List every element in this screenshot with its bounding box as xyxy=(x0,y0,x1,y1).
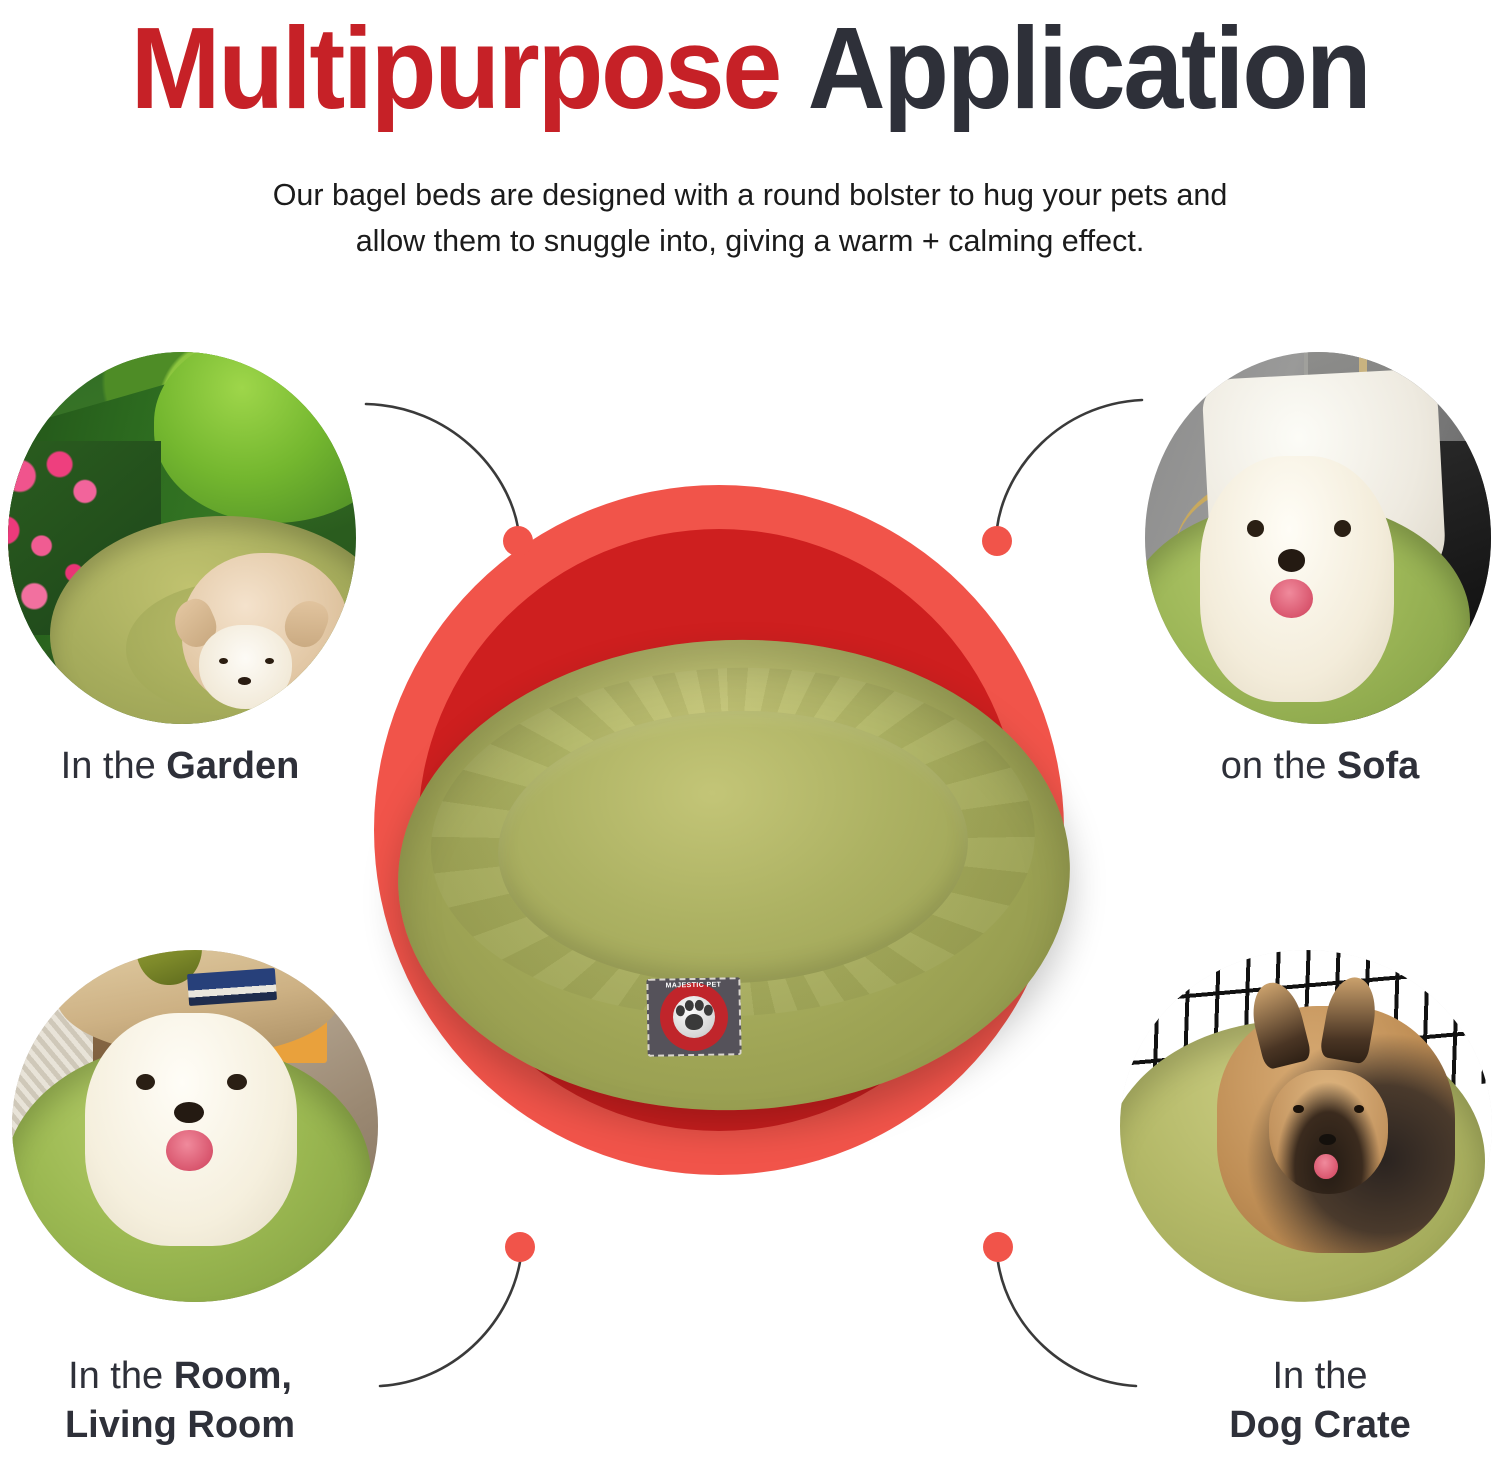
caption-garden-prefix: In the xyxy=(61,745,167,787)
german-shepherd-dog xyxy=(1217,1006,1455,1252)
dog-nose xyxy=(1278,549,1305,571)
dog-eye-left xyxy=(219,658,227,664)
living-room-scene xyxy=(12,950,378,1302)
multipurpose-application-infographic: Multipurpose Application Our bagel beds … xyxy=(0,0,1500,1471)
photo-in-the-dog-crate xyxy=(1120,950,1492,1302)
caption-crate-line2: Dog Crate xyxy=(1229,1404,1411,1446)
dog-nose xyxy=(238,677,251,685)
connector-line-garden xyxy=(366,404,518,528)
labrador-dog-living-room xyxy=(85,1013,297,1245)
connector-line-sofa xyxy=(997,400,1142,528)
photo-in-the-living-room xyxy=(12,950,378,1302)
labrador-dog-sofa xyxy=(1200,456,1394,702)
dog-nose xyxy=(174,1102,204,1123)
brand-tag-text-wrap: MAJESTIC PET xyxy=(648,979,739,1055)
brand-tag-text: MAJESTIC PET xyxy=(666,982,722,990)
caption-sofa-emphasis: Sofa xyxy=(1337,745,1419,787)
caption-garden: In the Garden xyxy=(0,742,360,791)
caption-living-prefix: In the xyxy=(68,1355,174,1397)
caption-living-line2: Living Room xyxy=(65,1404,295,1446)
garden-scene xyxy=(8,352,356,724)
caption-garden-emphasis: Garden xyxy=(166,745,299,787)
connector-line-crate xyxy=(998,1262,1136,1386)
dog-face xyxy=(199,625,293,709)
chihuahua-dog xyxy=(182,553,349,709)
caption-sofa: on the Sofa xyxy=(1140,742,1500,791)
page-title-dark: Application xyxy=(808,3,1370,133)
dog-eye-right xyxy=(265,658,273,664)
dog-eye-right xyxy=(227,1074,246,1090)
photo-in-the-garden xyxy=(8,352,356,724)
dog-eye-right xyxy=(1354,1105,1365,1114)
dog-tongue xyxy=(1270,579,1313,618)
caption-living-room: In the Room, Living Room xyxy=(0,1352,360,1449)
page-title-red: Multipurpose xyxy=(131,3,780,133)
dog-face xyxy=(1269,1070,1388,1193)
connector-dot-crate xyxy=(983,1232,1013,1262)
caption-crate-line1: In the xyxy=(1140,1352,1500,1401)
majestic-pet-brand-label: MAJESTIC PET xyxy=(646,977,741,1057)
dog-eye-left xyxy=(136,1074,155,1090)
stacked-books xyxy=(187,968,277,1006)
connector-line-living xyxy=(380,1262,520,1386)
caption-living-emphasis: Room, xyxy=(174,1355,292,1397)
dog-tongue xyxy=(166,1130,213,1172)
connector-dot-sofa xyxy=(982,526,1012,556)
dog-crate-scene xyxy=(1120,950,1492,1302)
caption-dog-crate: In the Dog Crate xyxy=(1140,1352,1500,1449)
sofa-scene xyxy=(1145,352,1491,724)
photo-on-the-sofa xyxy=(1145,352,1491,724)
dog-nose xyxy=(1319,1134,1336,1145)
dog-tongue xyxy=(1314,1154,1338,1179)
dog-eye-left xyxy=(1247,520,1264,537)
connector-dot-living xyxy=(505,1232,535,1262)
page-title: Multipurpose Application xyxy=(53,6,1448,131)
caption-living-line1: In the Room, xyxy=(0,1352,360,1401)
dog-eye-right xyxy=(1334,520,1351,537)
dog-eye-left xyxy=(1293,1105,1304,1114)
caption-sofa-prefix: on the xyxy=(1221,745,1337,787)
page-subtitle: Our bagel beds are designed with a round… xyxy=(250,172,1250,265)
